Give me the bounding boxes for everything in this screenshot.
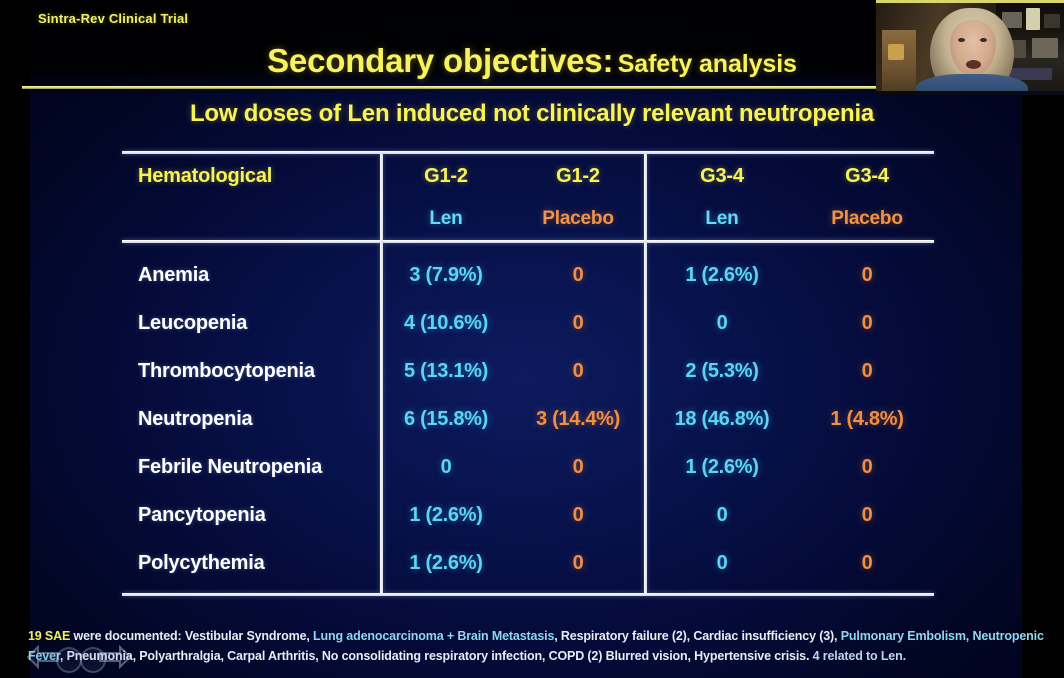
presenter-eye-right [980,38,987,42]
footnote: 19 SAE were documented: Vestibular Syndr… [28,626,1044,666]
cell-g34-placebo: 0 [800,299,934,347]
footnote-sae-count: 19 SAE [28,629,70,643]
table-row: Polycythemia [122,539,380,587]
cell-g34-placebo: 0 [800,347,934,395]
previous-slide-button[interactable] [26,645,60,669]
page-title-main: Secondary objectives: [267,42,613,79]
table-row: Febrile Neutropenia [122,443,380,491]
cell-g12-placebo: 0 [512,443,644,491]
cell-g12-placebo: 0 [512,299,644,347]
cell-g12-len: 4 (10.6%) [380,299,512,347]
header-grade-3: G3-4 [644,154,800,198]
footnote-text-2: , Respiratory failure (2), Cardiac insuf… [554,629,840,643]
cell-g12-len: 1 (2.6%) [380,539,512,587]
cell-g12-len: 1 (2.6%) [380,491,512,539]
footnote-text-1: were documented: Vestibular Syndrome, [70,629,313,643]
presenter-eye-left [958,38,965,42]
cell-g12-placebo: 0 [512,251,644,299]
header-arm-spacer [122,198,380,240]
table-row: Thrombocytopenia [122,347,380,395]
video-border-top [876,0,1064,3]
cell-g12-len: 5 (13.1%) [380,347,512,395]
cell-g34-len: 2 (5.3%) [644,347,800,395]
cell-g34-placebo: 0 [800,443,934,491]
header-category: Hematological [122,154,380,198]
table-row: Anemia [122,251,380,299]
table-row: Leucopenia [122,299,380,347]
cell-g34-placebo: 1 (4.8%) [800,395,934,443]
video-lamp [888,44,904,60]
cell-g12-len: 6 (15.8%) [380,395,512,443]
table-bottom-border [122,593,934,596]
footnote-highlight-1: Lung adenocarcinoma + Brain Metastasis [313,629,554,643]
cell-g12-len: 3 (7.9%) [380,251,512,299]
header-arm-1: Len [380,198,512,240]
table-vertical-rule-4 [644,243,647,593]
table-row: Pancytopenia [122,491,380,539]
footnote-related-note: 4 related to Len. [813,649,906,663]
cell-g34-len: 1 (2.6%) [644,443,800,491]
cell-g12-placebo: 0 [512,539,644,587]
header-grade-2: G1-2 [512,154,644,198]
page-title-sub: Safety analysis [618,50,797,78]
cell-g34-len: 1 (2.6%) [644,251,800,299]
cell-g34-placebo: 0 [800,251,934,299]
cell-g34-len: 0 [644,299,800,347]
header-arm-2: Placebo [512,198,644,240]
header-grade-4: G3-4 [800,154,934,198]
slide-stage: Sintra-Rev Clinical Trial Secondary obje… [0,0,1064,678]
table-vertical-rule-3 [380,243,383,593]
table-vertical-rule-2 [644,154,647,240]
presenter-video-overlay[interactable] [876,0,1064,95]
table-row: Neutropenia [122,395,380,443]
playback-dot-1[interactable] [56,647,82,673]
cell-g34-placebo: 0 [800,539,934,587]
cell-g12-placebo: 0 [512,491,644,539]
table-header: Hematological G1-2 G1-2 G3-4 G3-4 Len Pl… [122,154,934,240]
presenter-mouth [966,60,981,69]
table-body-top-spacer [122,243,934,251]
cell-g34-placebo: 0 [800,491,934,539]
playback-dot-2[interactable] [80,647,106,673]
header-grade-1: G1-2 [380,154,512,198]
header-arm-4: Placebo [800,198,934,240]
cell-g12-placebo: 3 (14.4%) [512,395,644,443]
footnote-highlight-2: Pulmonary Embolism, [841,629,969,643]
video-border-bottom [876,91,1064,95]
table-vertical-rule-1 [380,154,383,240]
cell-g12-len: 0 [380,443,512,491]
footnote-text-3: , Pneumonia, Polyarthralgia, Carpal Arth… [60,649,813,663]
cell-g34-len: 18 (46.8%) [644,395,800,443]
table-body: Anemia3 (7.9%)01 (2.6%)0Leucopenia4 (10.… [122,243,934,593]
slide-subtitle: Low doses of Len induced not clinically … [0,100,1064,128]
safety-table: Hematological G1-2 G1-2 G3-4 G3-4 Len Pl… [122,151,934,596]
cell-g34-len: 0 [644,491,800,539]
cell-g12-placebo: 0 [512,347,644,395]
header-arm-3: Len [644,198,800,240]
video-door [882,30,916,95]
cell-g34-len: 0 [644,539,800,587]
table-body-bottom-spacer [122,587,934,593]
slide-kicker: Sintra-Rev Clinical Trial [38,11,188,26]
